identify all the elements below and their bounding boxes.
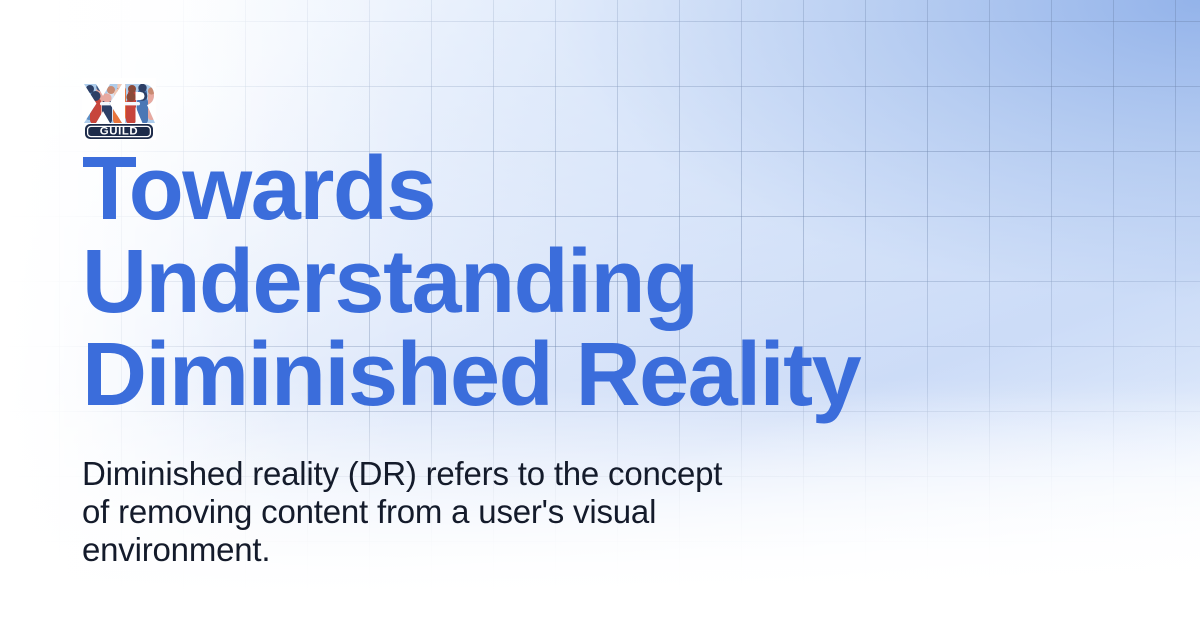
page-title: Towards Understanding Diminished Reality xyxy=(82,143,982,422)
page-summary: Diminished reality (DR) refers to the co… xyxy=(82,455,872,569)
social-share-card: GUILD Towards Understanding Diminished R… xyxy=(0,0,1200,630)
page-title-line-1: Towards xyxy=(82,143,982,236)
page-summary-line-2: of removing content from a user's visual xyxy=(82,493,872,531)
card-content: GUILD Towards Understanding Diminished R… xyxy=(82,0,1112,630)
page-summary-line-3: environment. xyxy=(82,531,872,569)
guild-badge: GUILD xyxy=(85,124,153,139)
page-title-line-3: Diminished Reality xyxy=(82,329,982,422)
xr-guild-logo[interactable]: GUILD xyxy=(82,78,156,140)
svg-text:GUILD: GUILD xyxy=(100,126,138,138)
page-summary-line-1: Diminished reality (DR) refers to the co… xyxy=(82,455,872,493)
xr-guild-logo-icon: GUILD xyxy=(82,78,156,140)
page-title-line-2: Understanding xyxy=(82,236,982,329)
